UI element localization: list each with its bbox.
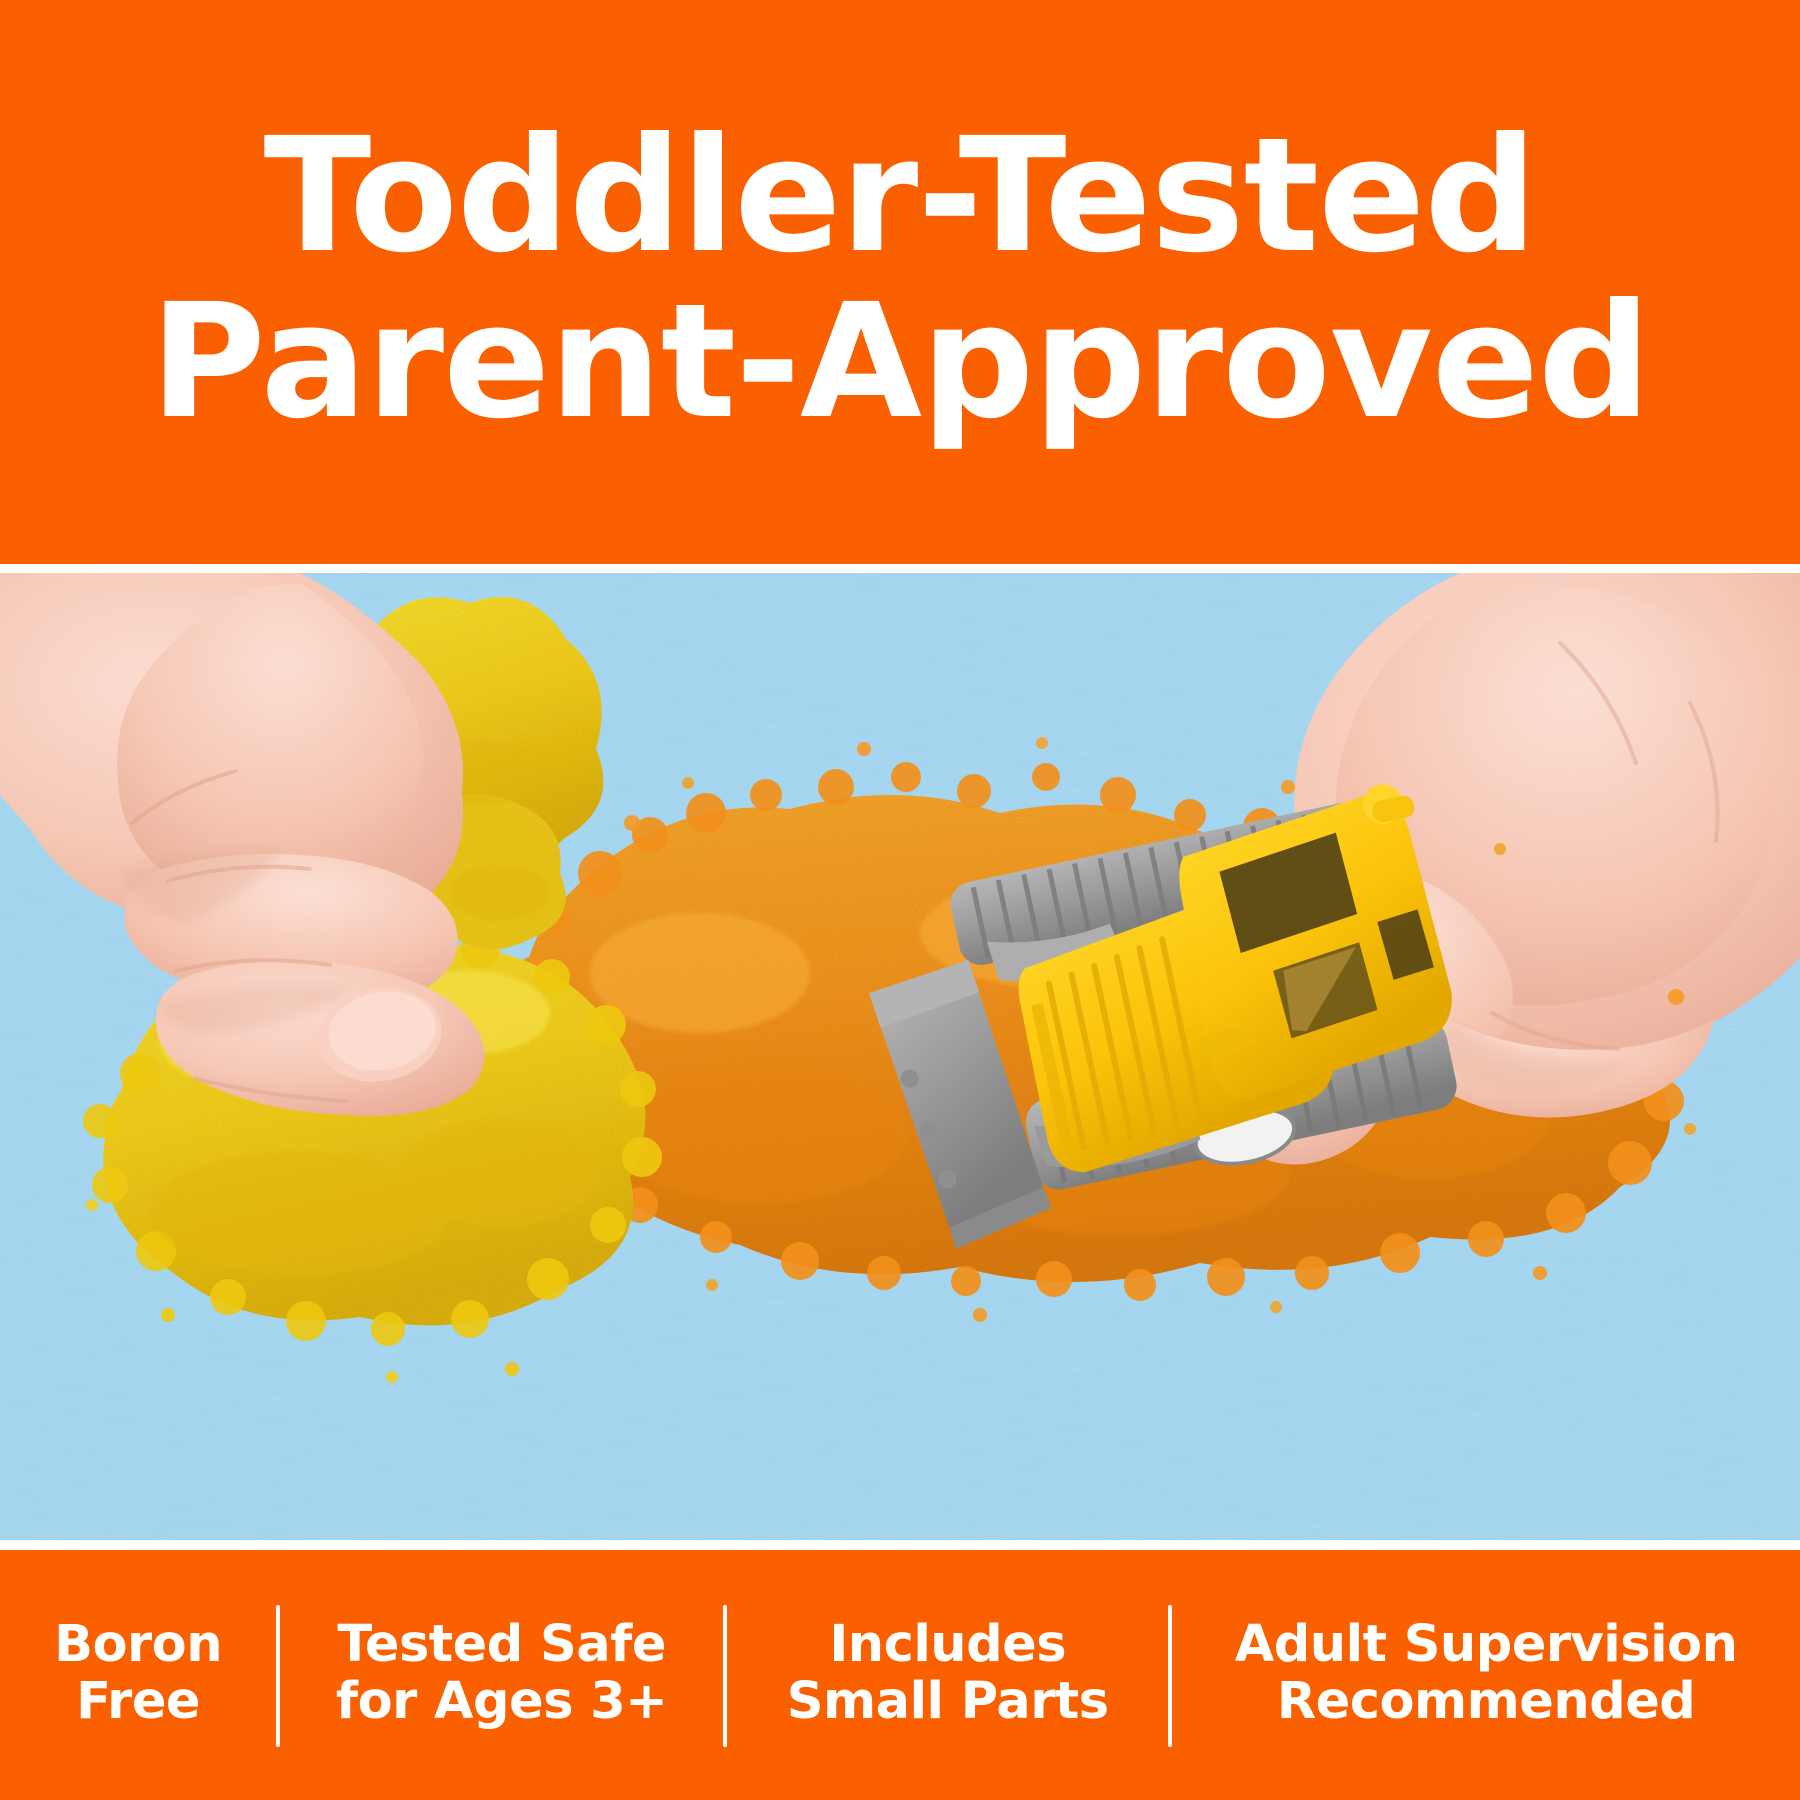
feature-line-2: Free bbox=[76, 1673, 200, 1730]
header-banner: Toddler-Tested Parent-Approved bbox=[0, 0, 1800, 564]
header-photo-gap bbox=[0, 564, 1800, 573]
product-marketing-poster: Toddler-Tested Parent-Approved bbox=[0, 0, 1800, 1800]
headline-line-2: Parent-Approved bbox=[150, 284, 1650, 440]
footer-feature-banner: Boron Free Tested Safe for Ages 3+ Inclu… bbox=[0, 1550, 1800, 1800]
feature-line-1: Adult Supervision bbox=[1235, 1616, 1738, 1673]
feature-line-2: Small Parts bbox=[787, 1673, 1109, 1730]
photo-footer-gap bbox=[0, 1540, 1800, 1550]
feature-tested-safe: Tested Safe for Ages 3+ bbox=[280, 1550, 723, 1800]
feature-line-2: Recommended bbox=[1277, 1673, 1695, 1730]
product-photo-illustration bbox=[0, 573, 1800, 1540]
feature-adult-supervision: Adult Supervision Recommended bbox=[1172, 1550, 1800, 1800]
feature-line-2: for Ages 3+ bbox=[336, 1673, 668, 1730]
feature-line-1: Boron bbox=[54, 1616, 222, 1673]
feature-includes-small-parts: Includes Small Parts bbox=[727, 1550, 1168, 1800]
headline-line-1: Toddler-Tested bbox=[264, 118, 1537, 274]
feature-boron-free: Boron Free bbox=[0, 1550, 276, 1800]
product-photo bbox=[0, 573, 1800, 1540]
feature-line-1: Includes bbox=[829, 1616, 1066, 1673]
feature-line-1: Tested Safe bbox=[337, 1616, 666, 1673]
